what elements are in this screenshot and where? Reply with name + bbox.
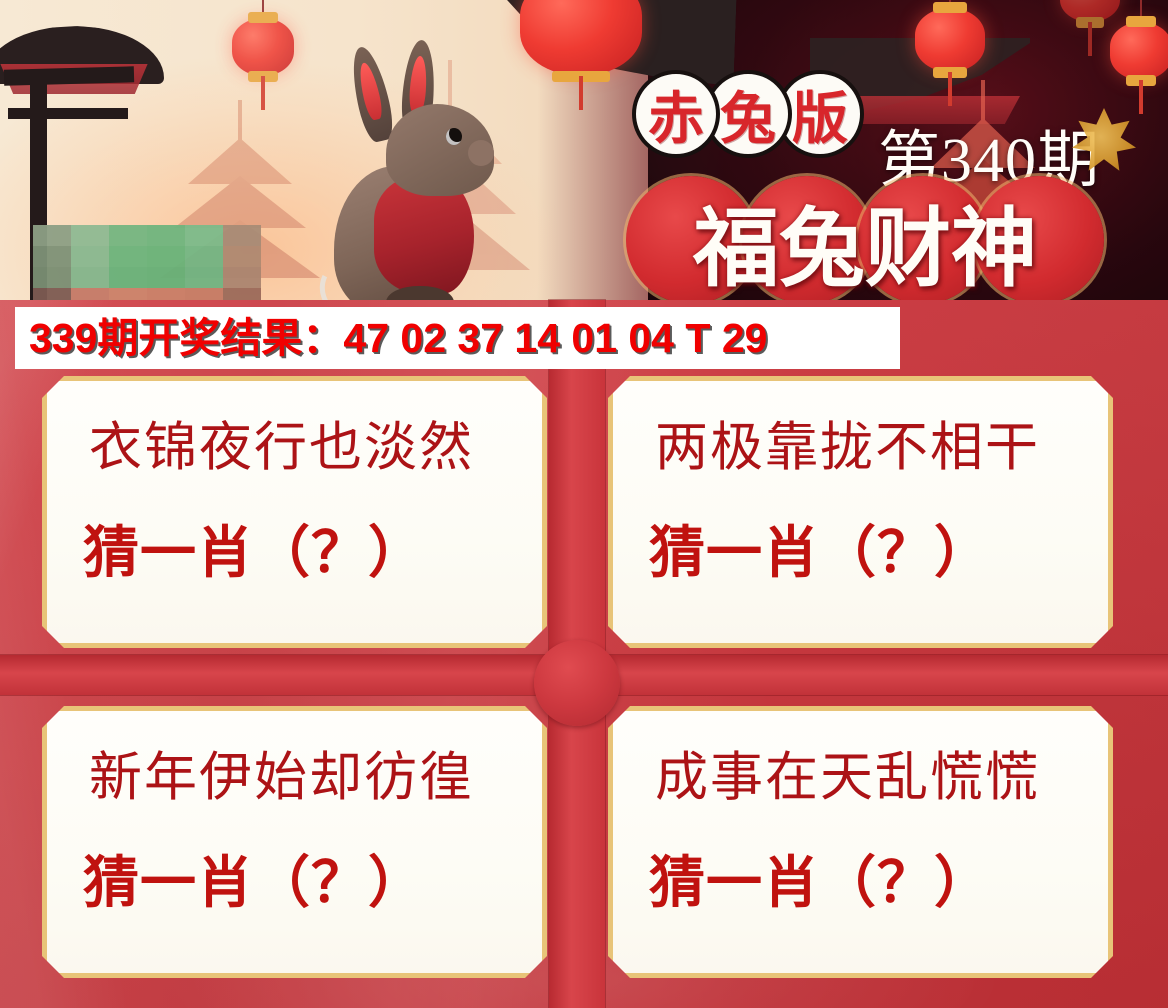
riddle-text: 成事在天乱慌慌 — [655, 751, 1078, 807]
lottery-poster: 赤 兔 版 第340期 福兔财神 339期开奖结果：47 02 37 14 01… — [0, 0, 1168, 1008]
riddle-text: 新年伊始却彷徨 — [89, 751, 512, 807]
main-title-text: 福兔财神 — [626, 176, 1104, 304]
rabbit-illustration — [300, 48, 510, 310]
riddle-card[interactable]: 衣锦夜行也淡然 猜一肖（？） — [42, 376, 547, 648]
riddle-answer: 猜一肖（？） — [83, 855, 512, 911]
riddle-answer: 猜一肖（？） — [649, 525, 1078, 581]
badge-char-1: 赤 — [632, 70, 720, 158]
censored-mosaic-block — [33, 225, 261, 309]
riddle-card[interactable]: 新年伊始却彷徨 猜一肖（？） — [42, 706, 547, 978]
edition-badge: 赤 兔 版 — [632, 66, 848, 162]
riddle-text: 两极靠拢不相干 — [655, 421, 1078, 477]
riddle-card[interactable]: 两极靠拢不相干 猜一肖（？） — [608, 376, 1113, 648]
riddle-answer: 猜一肖（？） — [649, 855, 1078, 911]
title-group: 赤 兔 版 第340期 福兔财神 — [620, 52, 1160, 302]
main-title: 福兔财神 — [626, 170, 1126, 310]
draw-result-banner: 339期开奖结果：47 02 37 14 01 04 T 29 — [15, 307, 900, 369]
riddle-answer: 猜一肖（？） — [83, 525, 512, 581]
riddle-card-grid: 衣锦夜行也淡然 猜一肖（？） 两极靠拢不相干 猜一肖（？） 新年伊始却彷徨 猜一… — [0, 300, 1168, 1008]
lantern-icon — [232, 18, 294, 76]
riddle-card[interactable]: 成事在天乱慌慌 猜一肖（？） — [608, 706, 1113, 978]
lantern-icon — [1060, 0, 1120, 22]
hero-banner-image: 赤 兔 版 第340期 福兔财神 — [0, 0, 1168, 310]
riddle-text: 衣锦夜行也淡然 — [89, 421, 512, 477]
draw-result-text: 339期开奖结果：47 02 37 14 01 04 T 29 — [29, 318, 767, 359]
